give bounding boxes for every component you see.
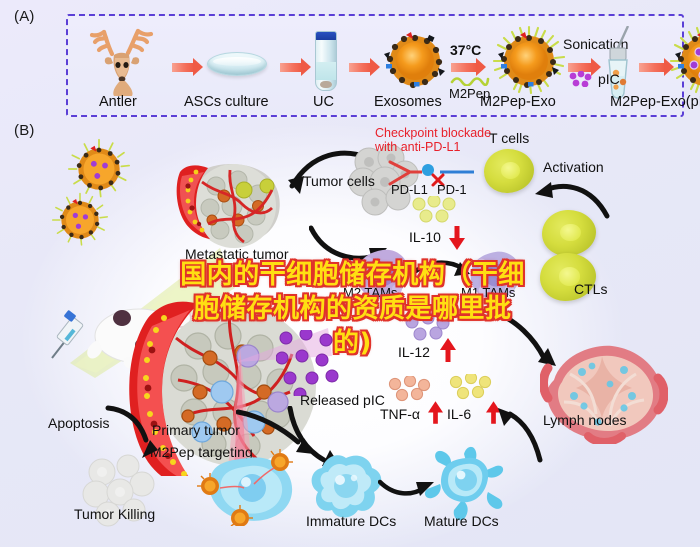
petri-dish-icon bbox=[207, 52, 267, 76]
arrow-tumor-to-dc bbox=[236, 408, 322, 464]
apoptosis-label: Apoptosis bbox=[48, 415, 109, 431]
pic-molecule-icon bbox=[568, 71, 594, 87]
sonication-probe-icon bbox=[598, 26, 640, 104]
centrifuge-tube-icon bbox=[315, 31, 337, 91]
activation-label: Activation bbox=[543, 159, 604, 175]
metastatic-tumor-label: Metastatic tumor bbox=[185, 246, 288, 262]
t-cells-label: T cells bbox=[489, 130, 529, 146]
checkpoint-blockade-note: Checkpoint blockade with anti-PD-L1 bbox=[375, 126, 491, 154]
panel-a-tag: (A) bbox=[14, 8, 35, 25]
il-6-label: IL-6 bbox=[447, 406, 471, 422]
process-arrow-6 bbox=[639, 63, 665, 72]
pdl1-label: PD-L1 bbox=[391, 182, 428, 197]
il-10-label: IL-10 bbox=[409, 229, 441, 245]
immature-dcs-label: Immature DCs bbox=[306, 513, 396, 529]
loaded-exosome-icon bbox=[670, 25, 700, 97]
checkpoint-line-2: with anti-PD-L1 bbox=[375, 140, 460, 154]
free-exosome-icon-1 bbox=[68, 138, 130, 200]
pic-annotation: pIC bbox=[598, 71, 620, 87]
deer-icon bbox=[84, 24, 168, 96]
temperature-annotation: 37°C bbox=[450, 42, 481, 58]
panel-a-container: 37°C M2Pep bbox=[66, 14, 684, 117]
m1-tams-label: M1 TAMs bbox=[461, 285, 515, 300]
m2pep-squiggle-icon bbox=[450, 74, 490, 86]
pd1-label: PD-1 bbox=[437, 182, 467, 197]
il-10-dots-icon bbox=[412, 196, 460, 226]
step-label-antler: Antler bbox=[99, 94, 137, 110]
mature-dcs-label: Mature DCs bbox=[424, 513, 499, 529]
arrow-polarization bbox=[410, 258, 472, 286]
mature-dc-icon bbox=[424, 444, 510, 524]
m2-tams-label: M2 TAMs bbox=[343, 285, 397, 300]
step-label-uc: UC bbox=[313, 94, 334, 110]
process-arrow-2 bbox=[280, 63, 302, 72]
step-label-m2pep-exo-pic: M2Pep-Exo(pIC) bbox=[610, 94, 700, 110]
tnf-alpha-dots-icon bbox=[388, 376, 434, 404]
step-label-m2pep-exo: M2Pep-Exo bbox=[480, 94, 556, 110]
tumor-cells-label: Tumor cells bbox=[303, 173, 375, 189]
lymph-node-icon bbox=[540, 344, 668, 444]
ctl-cell-icon-1 bbox=[542, 210, 596, 256]
panel-b-container: Metastatic tumor Tumor cells Checkpoint … bbox=[0, 118, 700, 547]
tnf-alpha-label: TNF-α bbox=[380, 406, 420, 422]
process-arrow-4 bbox=[451, 63, 477, 72]
process-arrow-1 bbox=[172, 63, 194, 72]
ctls-label: CTLs bbox=[574, 281, 607, 297]
exosome-icon bbox=[384, 30, 446, 92]
tumor-killing-label: Tumor Killing bbox=[74, 506, 155, 522]
released-pic-dots-icon bbox=[276, 330, 342, 396]
il-10-down-arrow-icon bbox=[449, 226, 465, 250]
step-label-exosomes: Exosomes bbox=[374, 94, 442, 110]
arrow-dc-maturation bbox=[378, 474, 436, 502]
metastatic-tumor-icon bbox=[172, 146, 302, 256]
peptide-exosome-icon bbox=[493, 25, 565, 97]
process-arrow-3 bbox=[349, 63, 371, 72]
lymph-nodes-label: Lymph nodes bbox=[543, 412, 627, 428]
il-12-up-arrow-icon bbox=[440, 338, 456, 362]
tnf-alpha-up-arrow-icon bbox=[428, 401, 443, 424]
t-cell-icon bbox=[484, 149, 534, 193]
step-label-ascs-culture: ASCs culture bbox=[184, 94, 269, 110]
scientific-figure: (A) bbox=[0, 0, 700, 547]
primary-tumor-label: Primary tumor bbox=[152, 422, 240, 438]
il-6-dots-icon bbox=[449, 374, 495, 402]
checkpoint-line-1: Checkpoint blockade bbox=[375, 126, 491, 140]
il-12-label: IL-12 bbox=[398, 344, 430, 360]
